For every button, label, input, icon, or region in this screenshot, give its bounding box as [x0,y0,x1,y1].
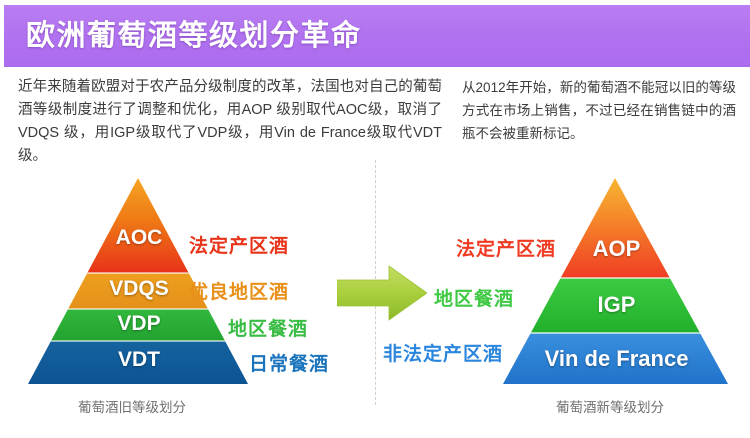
header-bar: 欧洲葡萄酒等级划分革命 [4,5,750,67]
new-level-label-vin-de-france: 非法定产区酒 [383,339,503,366]
new-level-code-igp: IGP [503,292,730,318]
intro-paragraph-right: 从2012年开始，新的葡萄酒不能冠以旧的等级方式在市场上销售，不过已经在销售链中… [462,76,736,145]
old-level-code-vdp: VDP [28,312,250,336]
new-system-pyramid: AOP IGP Vin de France [503,176,730,386]
old-band-aoc [28,176,250,273]
transition-arrow-icon [337,264,427,322]
old-level-label-vdp: 地区餐酒 [228,314,308,341]
old-system-caption: 葡萄酒旧等级划分 [78,396,186,416]
old-level-code-vdt: VDT [28,348,250,372]
new-level-code-vin-de-france: Vin de France [503,346,730,372]
page-title: 欧洲葡萄酒等级划分革命 [26,17,362,55]
infographic-page: 欧洲葡萄酒等级划分革命 近年来随着欧盟对于农产品分级制度的改革，法国也对自己的葡… [0,0,750,438]
new-system-caption: 葡萄酒新等级划分 [556,396,664,416]
new-level-label-aop: 法定产区酒 [456,234,556,261]
old-level-label-vdqs: 优良地区酒 [189,277,289,304]
old-level-label-aoc: 法定产区酒 [189,231,289,258]
new-band-aop [503,176,730,278]
new-level-label-igp: 地区餐酒 [434,284,514,311]
old-level-label-vdt: 日常餐酒 [249,349,329,376]
intro-paragraph-left: 近年来随着欧盟对于农产品分级制度的改革，法国也对自己的葡萄酒等级制度进行了调整和… [18,76,442,168]
